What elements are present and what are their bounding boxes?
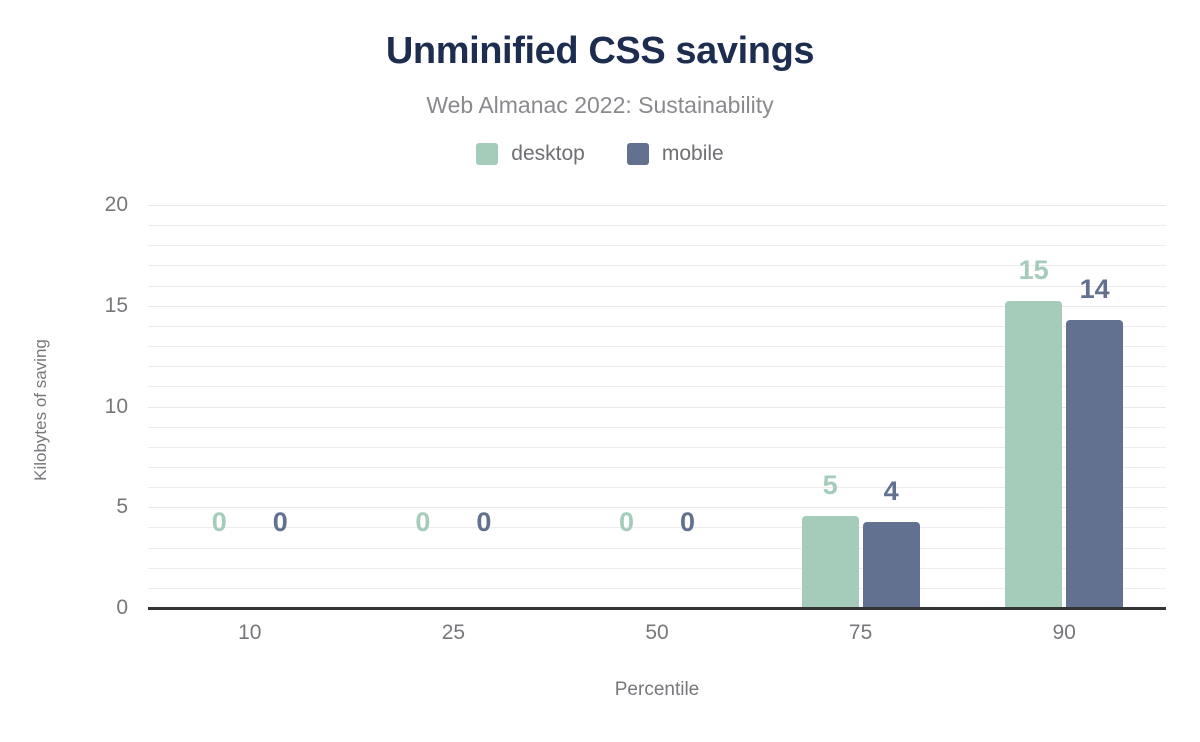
- x-tick-label: 50: [597, 618, 717, 648]
- x-tick-label: 25: [393, 618, 513, 648]
- gridline-minor: [148, 225, 1166, 226]
- y-tick-label: 10: [68, 396, 128, 417]
- bar-label-mobile-75: 4: [846, 476, 936, 506]
- gridline-minor: [148, 245, 1166, 246]
- bar-desktop-75[interactable]: [802, 516, 859, 608]
- y-tick-label: 5: [68, 496, 128, 517]
- bar-mobile-75[interactable]: [863, 522, 920, 608]
- y-tick-label: 15: [68, 295, 128, 316]
- x-tick-label: 90: [1004, 618, 1124, 648]
- bar-label-mobile-25: 0: [439, 507, 529, 537]
- bar-label-mobile-50: 0: [643, 507, 733, 537]
- gridline-major: [148, 205, 1166, 206]
- bar-label-mobile-90: 14: [1050, 274, 1140, 304]
- bar-desktop-90[interactable]: [1005, 301, 1062, 608]
- x-axis-line: [148, 607, 1166, 610]
- gridline-minor: [148, 286, 1166, 287]
- y-tick-label: 0: [68, 597, 128, 618]
- bar-label-mobile-10: 0: [235, 507, 325, 537]
- x-axis-ticks: 1025507590: [148, 618, 1166, 652]
- chart-plot: 000000541514 05101520 1025507590 Percent…: [0, 0, 1200, 742]
- y-tick-label: 20: [68, 194, 128, 215]
- y-axis-title: Kilobytes of saving: [31, 300, 51, 520]
- bar-mobile-90[interactable]: [1066, 320, 1123, 608]
- x-axis-title: Percentile: [148, 678, 1166, 702]
- y-axis-ticks: 05101520: [68, 205, 128, 608]
- x-tick-label: 75: [801, 618, 921, 648]
- x-tick-label: 10: [190, 618, 310, 648]
- plot-area: 000000541514: [148, 205, 1166, 608]
